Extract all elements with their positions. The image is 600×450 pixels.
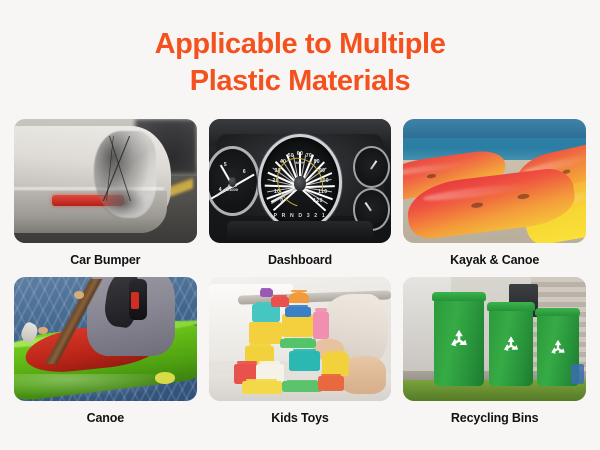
speedometer-unit-label: MPH: [296, 160, 305, 165]
recycling-bins-image[interactable]: [403, 277, 586, 401]
tachometer-tick-label: 6: [243, 169, 246, 175]
card-kayak-canoe[interactable]: Kayak & Canoe: [403, 119, 586, 267]
card-recycling-bins[interactable]: Recycling Bins: [403, 277, 586, 425]
recycle-symbol-icon: [499, 332, 523, 358]
car-bumper-image[interactable]: [14, 119, 197, 243]
card-label-recycling-bins: Recycling Bins: [403, 401, 586, 425]
card-car-bumper[interactable]: Car Bumper: [14, 119, 197, 267]
speedometer-tick-label: 0: [280, 198, 283, 204]
kids-toys-image[interactable]: [209, 277, 392, 401]
card-label-kids-toys: Kids Toys: [209, 401, 392, 425]
recycling-bin: [489, 309, 533, 386]
page-title-line-2: Plastic Materials: [40, 63, 560, 100]
fuel-gauge: [353, 146, 390, 188]
recycle-symbol-icon: [546, 336, 569, 360]
card-dashboard[interactable]: 456 RPM x1000 01020304050607080901001101…: [209, 119, 392, 267]
materials-grid: Car Bumper 456 RPM x1000: [14, 119, 586, 425]
kayak-image[interactable]: [403, 119, 586, 243]
card-label-kayak-canoe: Kayak & Canoe: [403, 243, 586, 267]
recycling-bin: [434, 299, 483, 386]
speedometer-tick-label: 60: [297, 151, 303, 157]
gear-indicator: P R N D 3 2 1: [274, 213, 327, 219]
speedometer-tick-label: 70: [306, 153, 312, 159]
card-label-car-bumper: Car Bumper: [14, 243, 197, 267]
tachometer-tick-label: 5: [224, 162, 227, 168]
page-title: Applicable to Multiple Plastic Materials: [0, 0, 600, 100]
recycle-symbol-icon: [446, 325, 473, 355]
card-label-canoe: Canoe: [14, 401, 197, 425]
tachometer-gauge: 456 RPM x1000: [209, 146, 260, 215]
card-kids-toys[interactable]: Kids Toys: [209, 277, 392, 425]
card-canoe[interactable]: Canoe: [14, 277, 197, 425]
card-label-dashboard: Dashboard: [209, 243, 392, 267]
canoe-image[interactable]: [14, 277, 197, 401]
dashboard-image[interactable]: 456 RPM x1000 01020304050607080901001101…: [209, 119, 392, 243]
page-title-line-1: Applicable to Multiple: [40, 26, 560, 63]
speedometer-gauge: 0102030405060708090100110120 MPH P R N D…: [258, 134, 342, 231]
speedometer-tick-label: 80: [314, 159, 320, 165]
